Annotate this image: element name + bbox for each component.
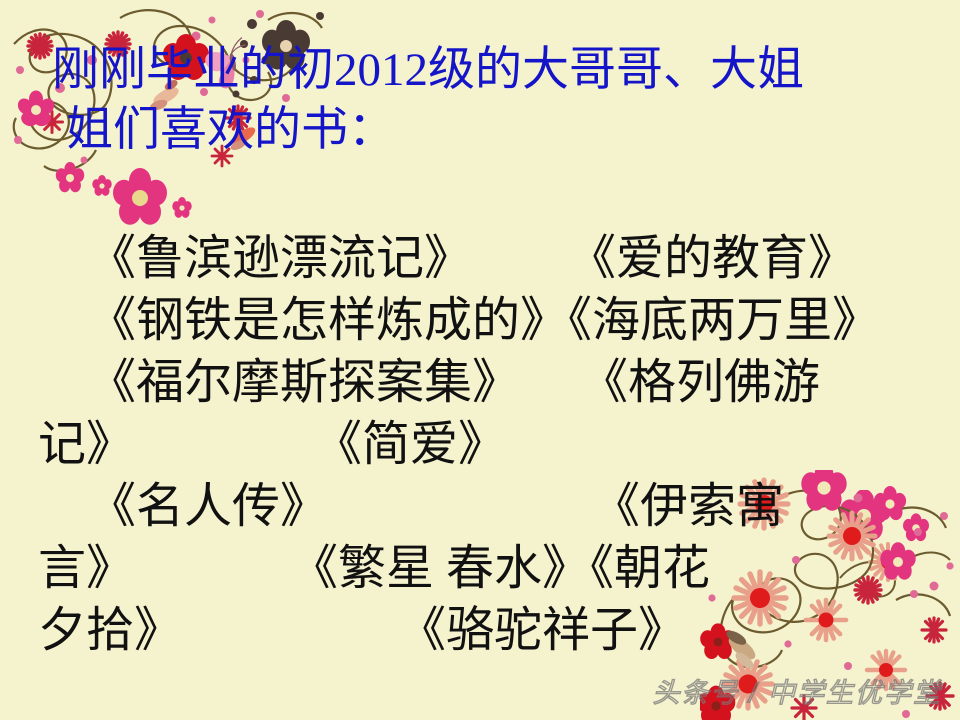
slide-title: 刚刚毕业的初2012级的大哥哥、大姐 姐们喜欢的书： [52, 40, 932, 160]
book-line: 《钢铁是怎样炼成的》《海底两万里》 [38, 290, 960, 352]
title-line-2: 姐们喜欢的书： [52, 100, 932, 160]
book-line: 夕拾》 《骆驼祥子》 [38, 600, 960, 662]
book-line: 《名人传》 《伊索寓 [38, 476, 960, 538]
slide-canvas: 刚刚毕业的初2012级的大哥哥、大姐 姐们喜欢的书： 《鲁滨逊漂流记》 《爱的教… [0, 0, 960, 720]
book-line: 《福尔摩斯探案集》 《格列佛游 [38, 352, 960, 414]
watermark-text: 头条号 / 中学生优学堂 [652, 671, 942, 710]
book-line: 《鲁滨逊漂流记》 《爱的教育》 [38, 228, 960, 290]
title-line-1: 刚刚毕业的初2012级的大哥哥、大姐 [52, 40, 932, 100]
book-line: 记》 《简爱》 [38, 414, 960, 476]
book-line: 言》 《繁星 春水》《朝花 [38, 538, 960, 600]
book-title-list: 《鲁滨逊漂流记》 《爱的教育》 《钢铁是怎样炼成的》《海底两万里》 《福尔摩斯探… [38, 228, 960, 662]
